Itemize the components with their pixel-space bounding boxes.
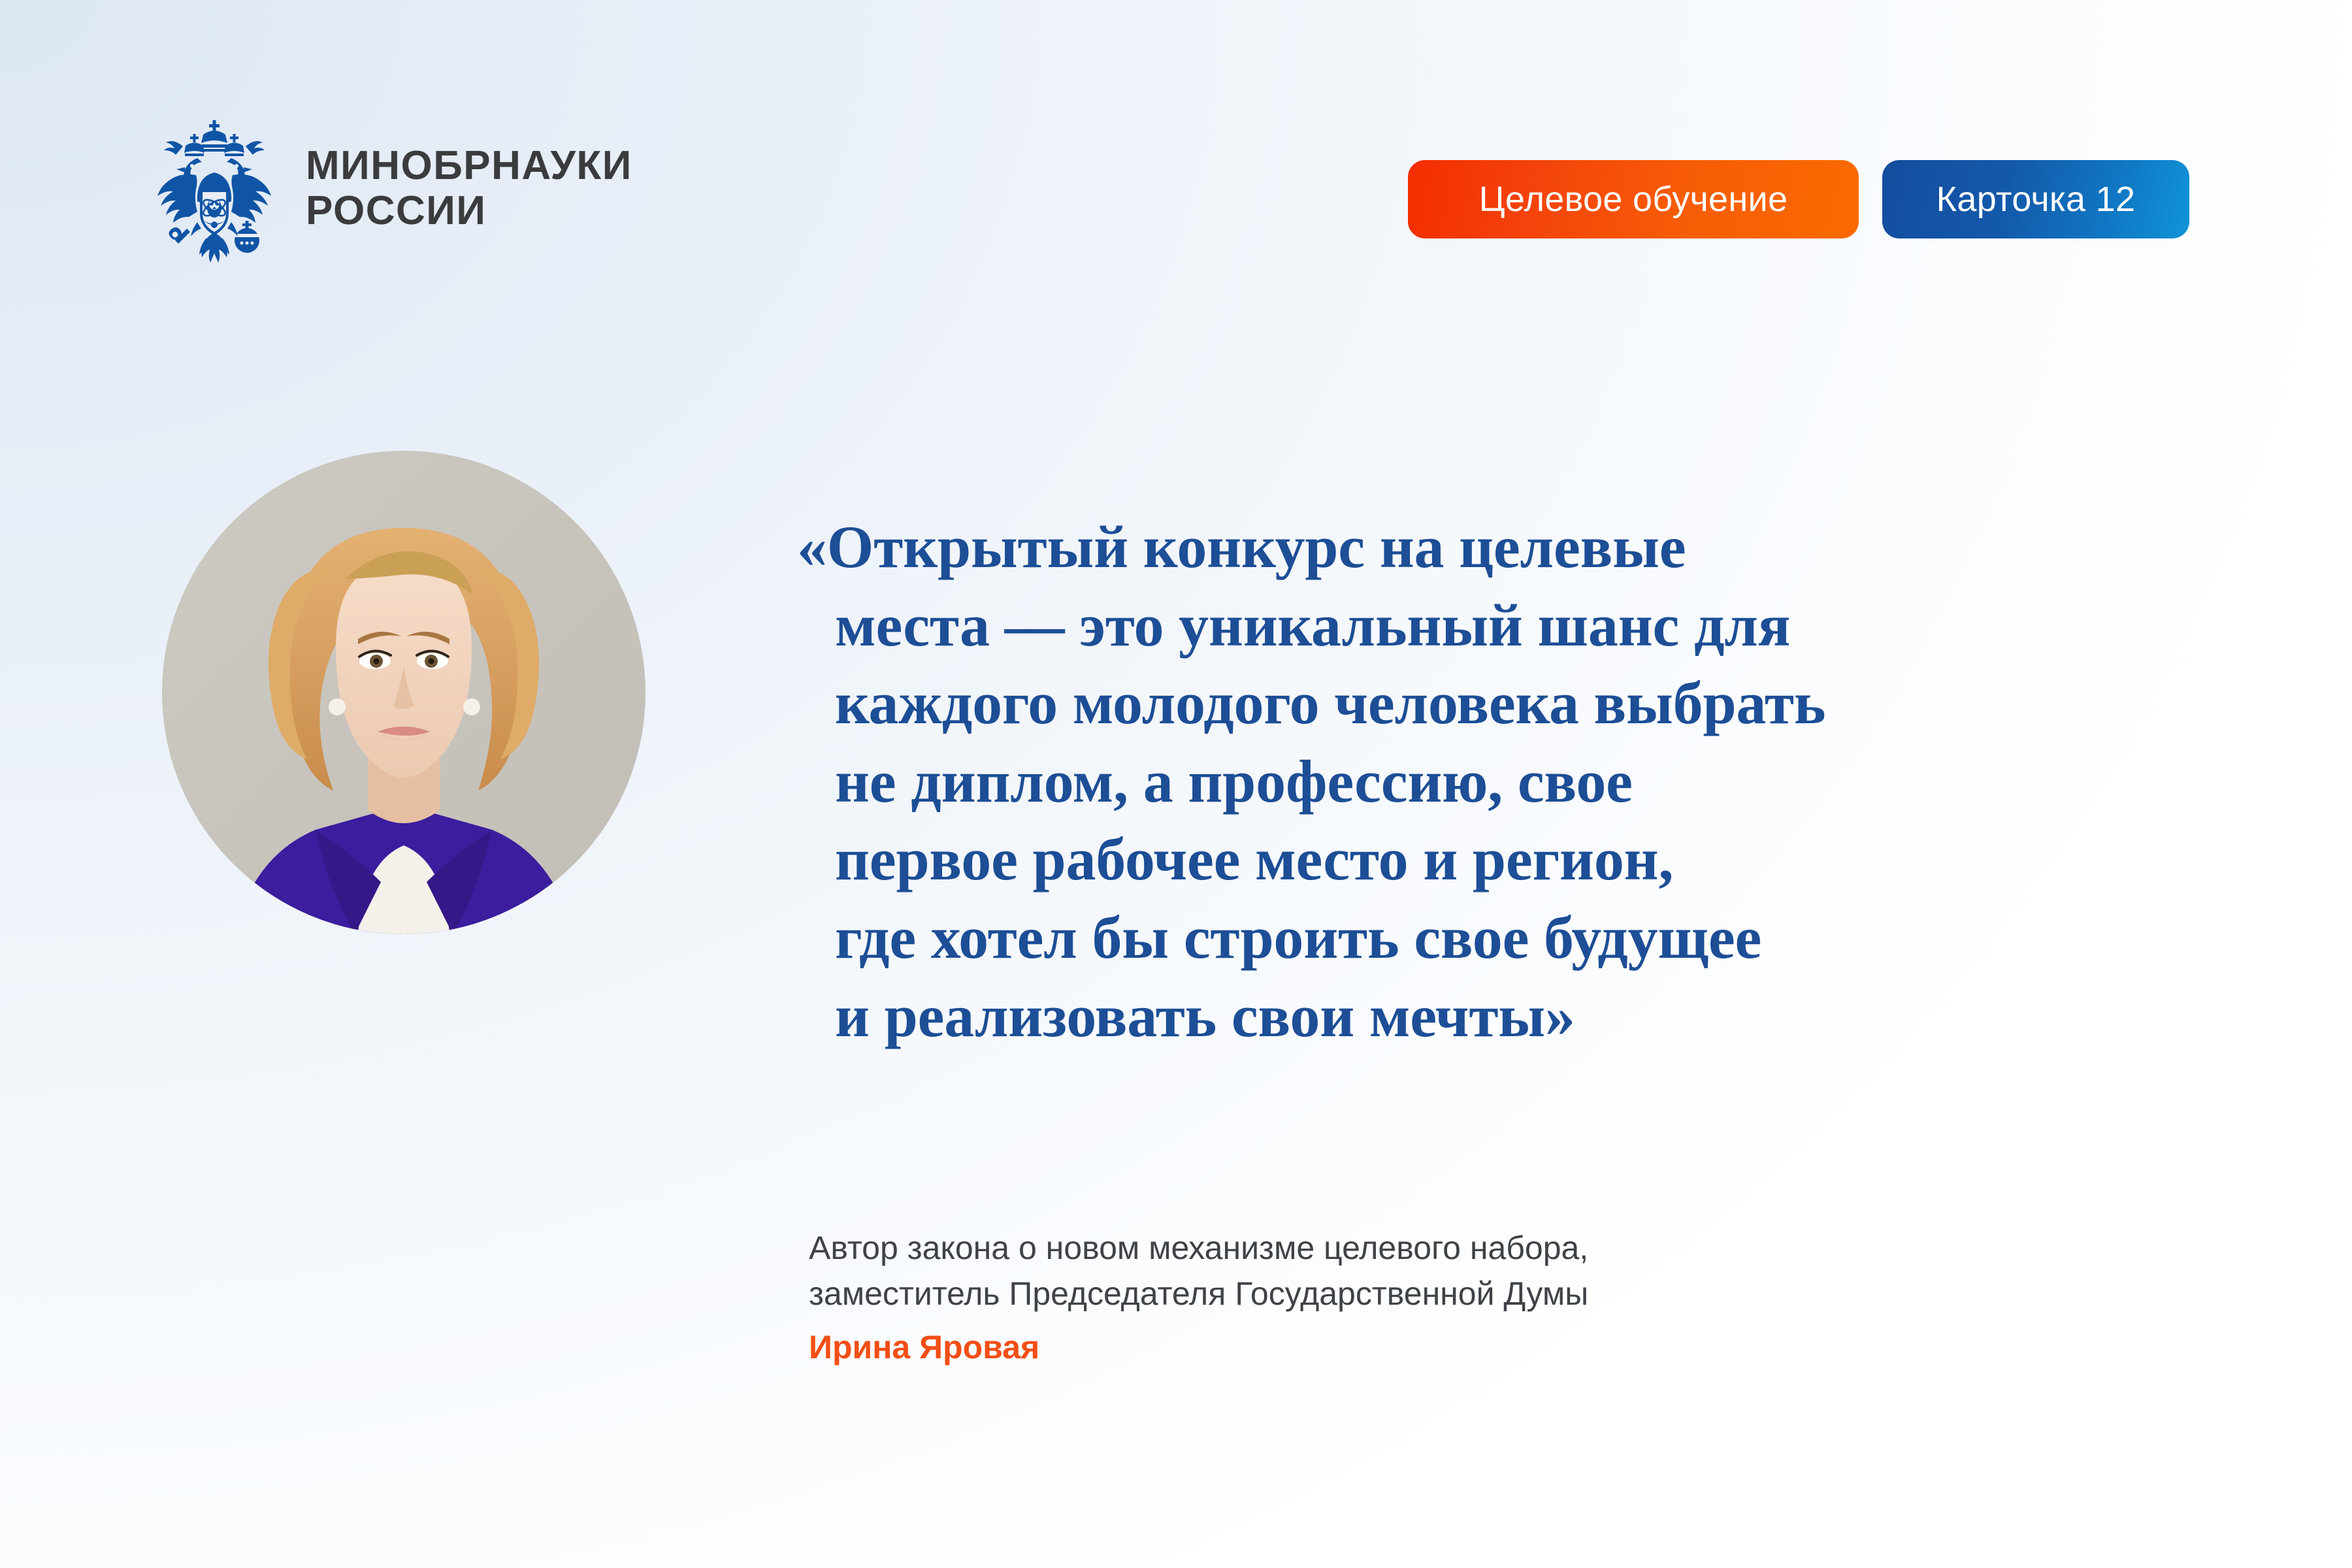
badge-topic[interactable]: Целевое обучение [1408,160,1859,238]
quote-line: каждого молодого человека выбрать [835,664,2274,743]
badge-group: Целевое обучение Карточка 12 [1408,160,2189,238]
russian-double-headed-eagle-emblem-icon [149,112,280,264]
quote-line: места — это уникальный шанс для [835,587,2274,665]
portrait-illustration [162,451,645,934]
info-card: МИНОБРНАУКИ РОССИИ Целевое обучение Карт… [0,0,2352,1568]
attribution-role-line-1: Автор закона о новом механизме целевого … [809,1225,2181,1271]
speaker-avatar [162,451,645,934]
quote-line: не диплом, а профессию, свое [835,743,2274,821]
ministry-logo: МИНОБРНАУКИ РОССИИ [149,112,632,264]
attribution-person-name: Ирина Яровая [809,1324,2181,1370]
attribution-role-line-2: заместитель Председателя Государственной… [809,1271,2181,1316]
quote-line: «Открытый конкурс на целевые [797,508,2274,587]
quote-line: первое рабочее место и регион, [835,821,2274,899]
badge-card-number[interactable]: Карточка 12 [1882,160,2189,238]
attribution-block: Автор закона о новом механизме целевого … [809,1225,2181,1370]
ministry-logo-text: МИНОБРНАУКИ РОССИИ [306,143,632,234]
quote-line: и реализовать свои мечты» [835,977,2274,1056]
quote-text: «Открытый конкурс на целевые места — это… [797,508,2274,1055]
quote-line: где хотел бы строить свое будущее [835,899,2274,977]
